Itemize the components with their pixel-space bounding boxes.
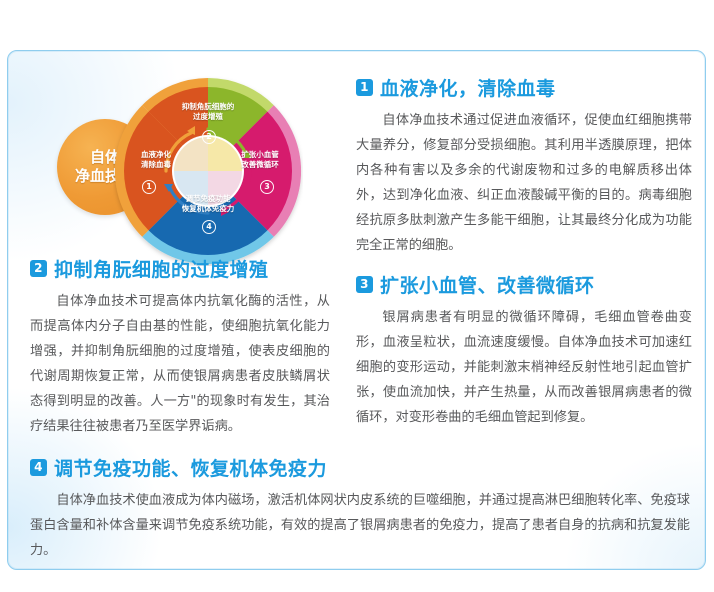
section-4-title: 调节免疫功能、恢复机体免疫力 [54,454,327,481]
section-4-badge: 4 [30,459,47,476]
segment-number-2: 2 [202,130,216,144]
segment-label-3: 扩张小血管 改善微循环 [223,150,297,170]
segment-1-line1: 血液净化 [141,150,171,159]
section-3-title: 扩张小血管、改善微循环 [380,271,595,298]
right-column: 1 血液净化，清除血毒 自体净血技术通过促进血液循环，促使血红细胞携带大量养分，… [356,74,692,430]
section-1-title: 血液净化，清除血毒 [380,74,556,101]
section-1: 1 血液净化，清除血毒 自体净血技术通过促进血液循环，促使血红细胞携带大量养分，… [356,74,692,258]
wheel-graphic: 血液净化 清除血毒 1 抑制角朊细胞的 过度增殖 2 扩张小血管 改善微循环 3… [113,76,303,266]
left-column: 2 抑制角朊细胞的过度增殖 自体净血技术可提高体内抗氧化酶的活性，从而提高体内分… [30,255,330,439]
segment-3-line1: 扩张小血管 [241,150,279,159]
segment-3-line2: 改善微循环 [241,160,279,169]
segment-4-line1: 调节免疫功能 [186,194,231,203]
segment-label-1: 血液净化 清除血毒 [119,150,193,170]
section-3: 3 扩张小血管、改善微循环 银屑病患者有明显的微循环障碍，毛细血管卷曲变形，血液… [356,271,692,430]
segment-label-4: 调节免疫功能 恢复机体免疫力 [171,194,245,214]
technology-wheel-diagram: 自体 净血技术 [53,71,308,261]
section-3-heading: 3 扩张小血管、改善微循环 [356,271,692,298]
section-2-body: 自体净血技术可提高体内抗氧化酶的活性，从而提高体内分子自由基的性能，使细胞抗氧化… [30,289,330,439]
segment-label-2: 抑制角朊细胞的 过度增殖 [171,102,245,122]
section-1-body: 自体净血技术通过促进血液循环，促使血红细胞携带大量养分，修复部分受损细胞。其利用… [356,108,692,258]
section-2: 2 抑制角朊细胞的过度增殖 自体净血技术可提高体内抗氧化酶的活性，从而提高体内分… [30,255,330,439]
segment-1-line2: 清除血毒 [141,160,171,169]
content-card: 自体 净血技术 [7,50,706,570]
page-root: 自体 净血技术 [0,0,714,592]
segment-number-1: 1 [142,180,156,194]
segment-2-line1: 抑制角朊细胞的 [182,102,235,111]
segment-2-line2: 过度增殖 [193,112,223,121]
section-2-title: 抑制角朊细胞的过度增殖 [54,255,269,282]
section-3-body: 银屑病患者有明显的微循环障碍，毛细血管卷曲变形，血液呈粒状，血流速度缓慢。自体净… [356,305,692,430]
section-2-badge: 2 [30,260,47,277]
segment-number-4: 4 [202,220,216,234]
section-1-heading: 1 血液净化，清除血毒 [356,74,692,101]
section-4-body: 自体净血技术使血液成为体内磁场，激活机体网状内皮系统的巨噬细胞，并通过提高淋巴细… [30,488,690,563]
section-1-badge: 1 [356,79,373,96]
segment-number-3: 3 [260,180,274,194]
segment-4-line2: 恢复机体免疫力 [182,204,235,213]
section-2-heading: 2 抑制角朊细胞的过度增殖 [30,255,330,282]
section-4: 4 调节免疫功能、恢复机体免疫力 自体净血技术使血液成为体内磁场，激活机体网状内… [30,454,690,563]
section-3-badge: 3 [356,276,373,293]
section-4-heading: 4 调节免疫功能、恢复机体免疫力 [30,454,690,481]
